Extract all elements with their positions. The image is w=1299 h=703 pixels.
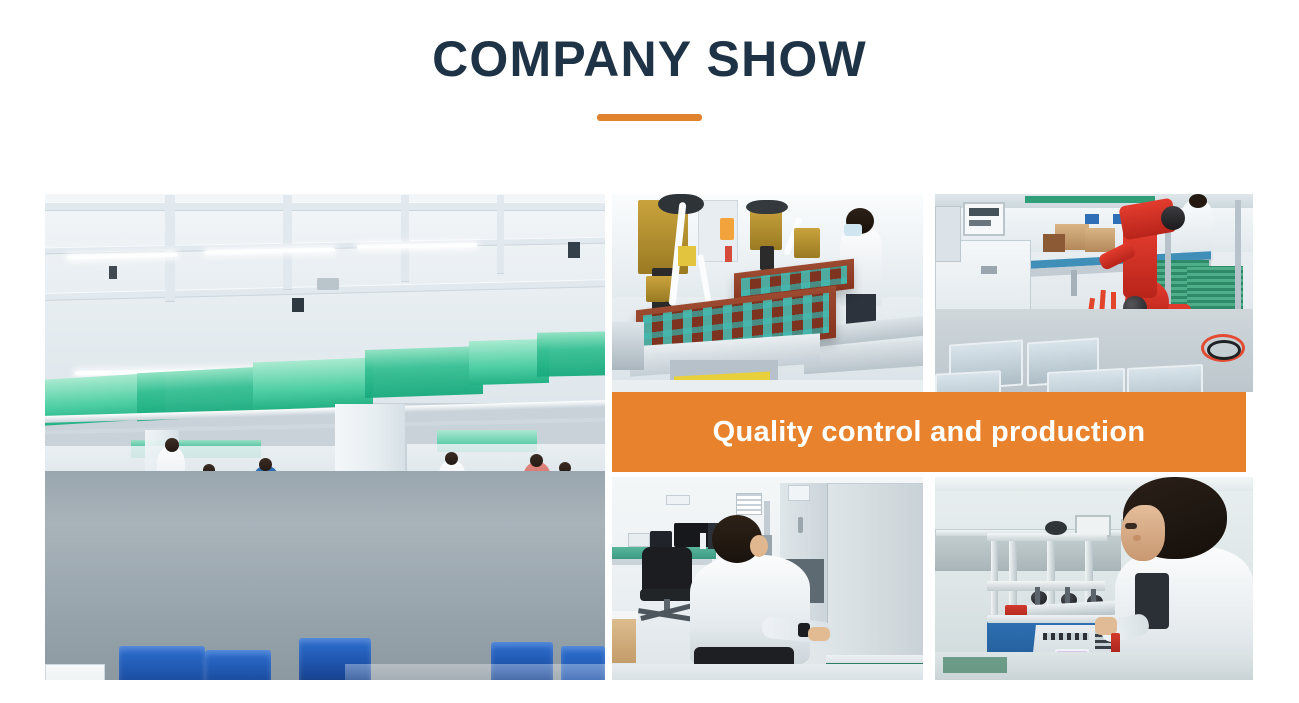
sign-text xyxy=(969,208,999,216)
engineer-eyebrow xyxy=(1125,523,1137,529)
rig-post xyxy=(991,537,998,615)
air-vent xyxy=(736,493,762,515)
ceiling-sensor xyxy=(292,298,304,312)
cabinet-plate xyxy=(788,485,810,501)
green-partition xyxy=(253,357,373,410)
smt-dispenser-scene xyxy=(612,194,923,392)
photo-robot-arm[interactable] xyxy=(935,194,1253,392)
conveyor-leg xyxy=(1071,270,1077,296)
ceiling-column xyxy=(283,194,292,290)
rig-crossbar xyxy=(987,533,1107,541)
green-partition xyxy=(365,346,483,398)
background-worker-head xyxy=(1189,194,1207,208)
photo-test-rig-engineer[interactable] xyxy=(935,477,1253,680)
floor-sheen xyxy=(345,664,605,680)
status-indicator xyxy=(720,218,734,240)
carton-lid xyxy=(612,611,638,619)
background-worker-head xyxy=(165,438,179,452)
background-worker-head xyxy=(259,458,272,471)
company-show-page: COMPANY SHOW xyxy=(0,0,1299,703)
dispenser-part xyxy=(678,246,696,266)
engineer-nose xyxy=(1133,535,1141,541)
technician-hand xyxy=(808,627,830,641)
ceiling-sensor xyxy=(568,242,580,258)
photo-assembly-line[interactable] xyxy=(45,194,605,680)
dispenser-cap xyxy=(746,200,788,214)
caption-text: Quality control and production xyxy=(713,416,1146,449)
cabinet-upper xyxy=(935,206,961,262)
photo-cabinet-technician[interactable] xyxy=(612,477,923,680)
page-title: COMPANY SHOW xyxy=(432,34,867,84)
actuator-rod xyxy=(1035,587,1040,605)
photo-smt-dispenser[interactable] xyxy=(612,194,923,392)
blue-bin xyxy=(119,646,205,680)
machine-side-module xyxy=(612,322,644,370)
cabinet-handle xyxy=(798,517,803,533)
engineer-face xyxy=(1121,505,1165,561)
metal-frame xyxy=(1047,368,1125,392)
floor-mat xyxy=(943,657,1007,673)
rig-sensor xyxy=(1045,521,1067,535)
small-device xyxy=(700,533,706,549)
title-underline-accent xyxy=(597,114,702,121)
test-rig-scene xyxy=(935,477,1253,680)
robot-shoulder-joint xyxy=(1161,206,1185,230)
dispenser-shaft xyxy=(760,246,774,270)
white-box xyxy=(45,664,105,680)
ceiling-fixture xyxy=(317,278,339,290)
page-header: COMPANY SHOW xyxy=(0,0,1299,170)
face-mask xyxy=(844,224,862,236)
cardboard-box xyxy=(1085,228,1115,252)
wall-placard xyxy=(1085,214,1099,224)
ceiling-column xyxy=(165,194,175,302)
coiled-cable xyxy=(1207,340,1241,360)
ceiling-column xyxy=(401,194,409,282)
green-partition xyxy=(537,331,605,377)
dispenser-head xyxy=(794,228,820,258)
lab-floor xyxy=(612,664,923,680)
background-worker-head xyxy=(445,452,458,465)
sign-text xyxy=(969,220,991,226)
ceiling-column xyxy=(497,194,504,274)
cardboard-carton xyxy=(612,613,636,663)
wall-label xyxy=(666,495,690,505)
cabinet-technician-scene xyxy=(612,477,923,680)
background-worker-head xyxy=(530,454,543,467)
status-indicator xyxy=(725,246,732,262)
rig-crossbar xyxy=(987,581,1105,591)
ceiling-sensor xyxy=(109,266,117,279)
assembly-line-scene xyxy=(45,194,605,680)
machine-front-edge xyxy=(612,380,923,392)
ceiling-beam xyxy=(45,202,605,211)
metal-frame xyxy=(1127,364,1203,392)
metal-frame xyxy=(935,370,1001,392)
shelf-shadow xyxy=(935,537,1121,571)
instrument-box xyxy=(628,533,650,547)
rig-post xyxy=(1047,533,1055,615)
caption-banner: Quality control and production xyxy=(612,392,1246,472)
technician-face xyxy=(750,535,768,557)
green-ceiling-band xyxy=(1025,196,1155,203)
robot-arm-scene xyxy=(935,194,1253,392)
cardboard-box xyxy=(1043,234,1065,252)
cabinet-lock xyxy=(981,266,997,274)
office-chair-back xyxy=(642,547,692,595)
panel-labels xyxy=(1043,633,1089,640)
blue-bin xyxy=(205,650,271,680)
